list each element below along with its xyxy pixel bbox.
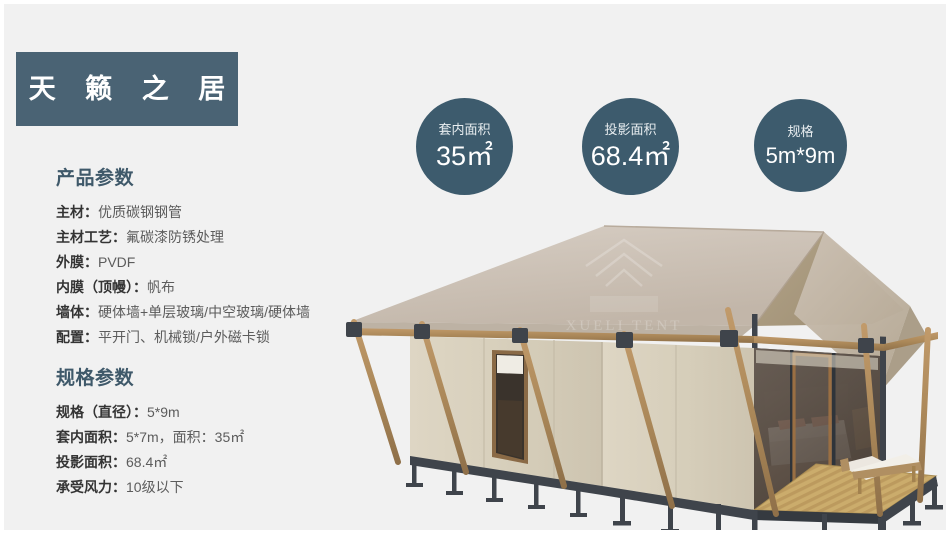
safari-tent-render: XUELI TENT xyxy=(324,214,950,534)
spec-value: 68.4㎡ xyxy=(126,454,167,470)
spec-value: 帆布 xyxy=(147,279,175,295)
watermark-text: XUELI TENT xyxy=(566,318,683,334)
badge-label: 规格 xyxy=(787,125,813,138)
tent-illustration: XUELI TENT xyxy=(324,214,950,534)
spec-value: 氟碳漆防锈处理 xyxy=(126,229,224,245)
spec-label: 内膜（顶幔）： xyxy=(56,279,147,295)
product-spec-page: 天 籁 之 居 产品参数 主材：优质碳钢钢管 主材工艺：氟碳漆防锈处理 外膜：P… xyxy=(0,0,950,534)
badge-value: 5m*9m xyxy=(766,145,836,167)
badge-value: 68.4㎡ xyxy=(591,143,671,170)
badge-label: 投影面积 xyxy=(604,123,656,136)
spec-label: 套内面积： xyxy=(56,429,126,445)
spec-label: 配置： xyxy=(56,329,98,345)
spec-label: 规格（直径）： xyxy=(56,404,147,420)
spec-label: 主材： xyxy=(56,204,98,220)
badge-label: 套内面积 xyxy=(438,123,490,136)
spec-value: 5*7m，面积：35㎡ xyxy=(126,429,244,445)
badge-dimensions: 规格 5m*9m xyxy=(754,99,847,192)
spec-label: 外膜： xyxy=(56,254,98,270)
spec-value: 硬体墙+单层玻璃/中空玻璃/硬体墙 xyxy=(98,304,310,320)
tent-window xyxy=(492,350,528,464)
spec-label: 墙体： xyxy=(56,304,98,320)
badge-value: 35㎡ xyxy=(436,143,493,170)
badge-indoor-area: 套内面积 35㎡ xyxy=(416,98,513,195)
title-banner: 天 籁 之 居 xyxy=(16,52,238,126)
spec-value: 平开门、机械锁/户外磁卡锁 xyxy=(98,329,270,345)
spec-label: 承受风力： xyxy=(56,479,126,495)
spec-value: 5*9m xyxy=(147,404,180,420)
spec-value: 优质碳钢钢管 xyxy=(98,204,182,220)
spec-label: 主材工艺： xyxy=(56,229,126,245)
spec-value: 10级以下 xyxy=(126,479,184,495)
spec-value: PVDF xyxy=(98,254,135,270)
badge-projected-area: 投影面积 68.4㎡ xyxy=(582,98,679,195)
product-spec-heading: 产品参数 xyxy=(56,168,376,191)
spec-label: 投影面积： xyxy=(56,454,126,470)
page-title: 天 籁 之 居 xyxy=(18,76,237,103)
